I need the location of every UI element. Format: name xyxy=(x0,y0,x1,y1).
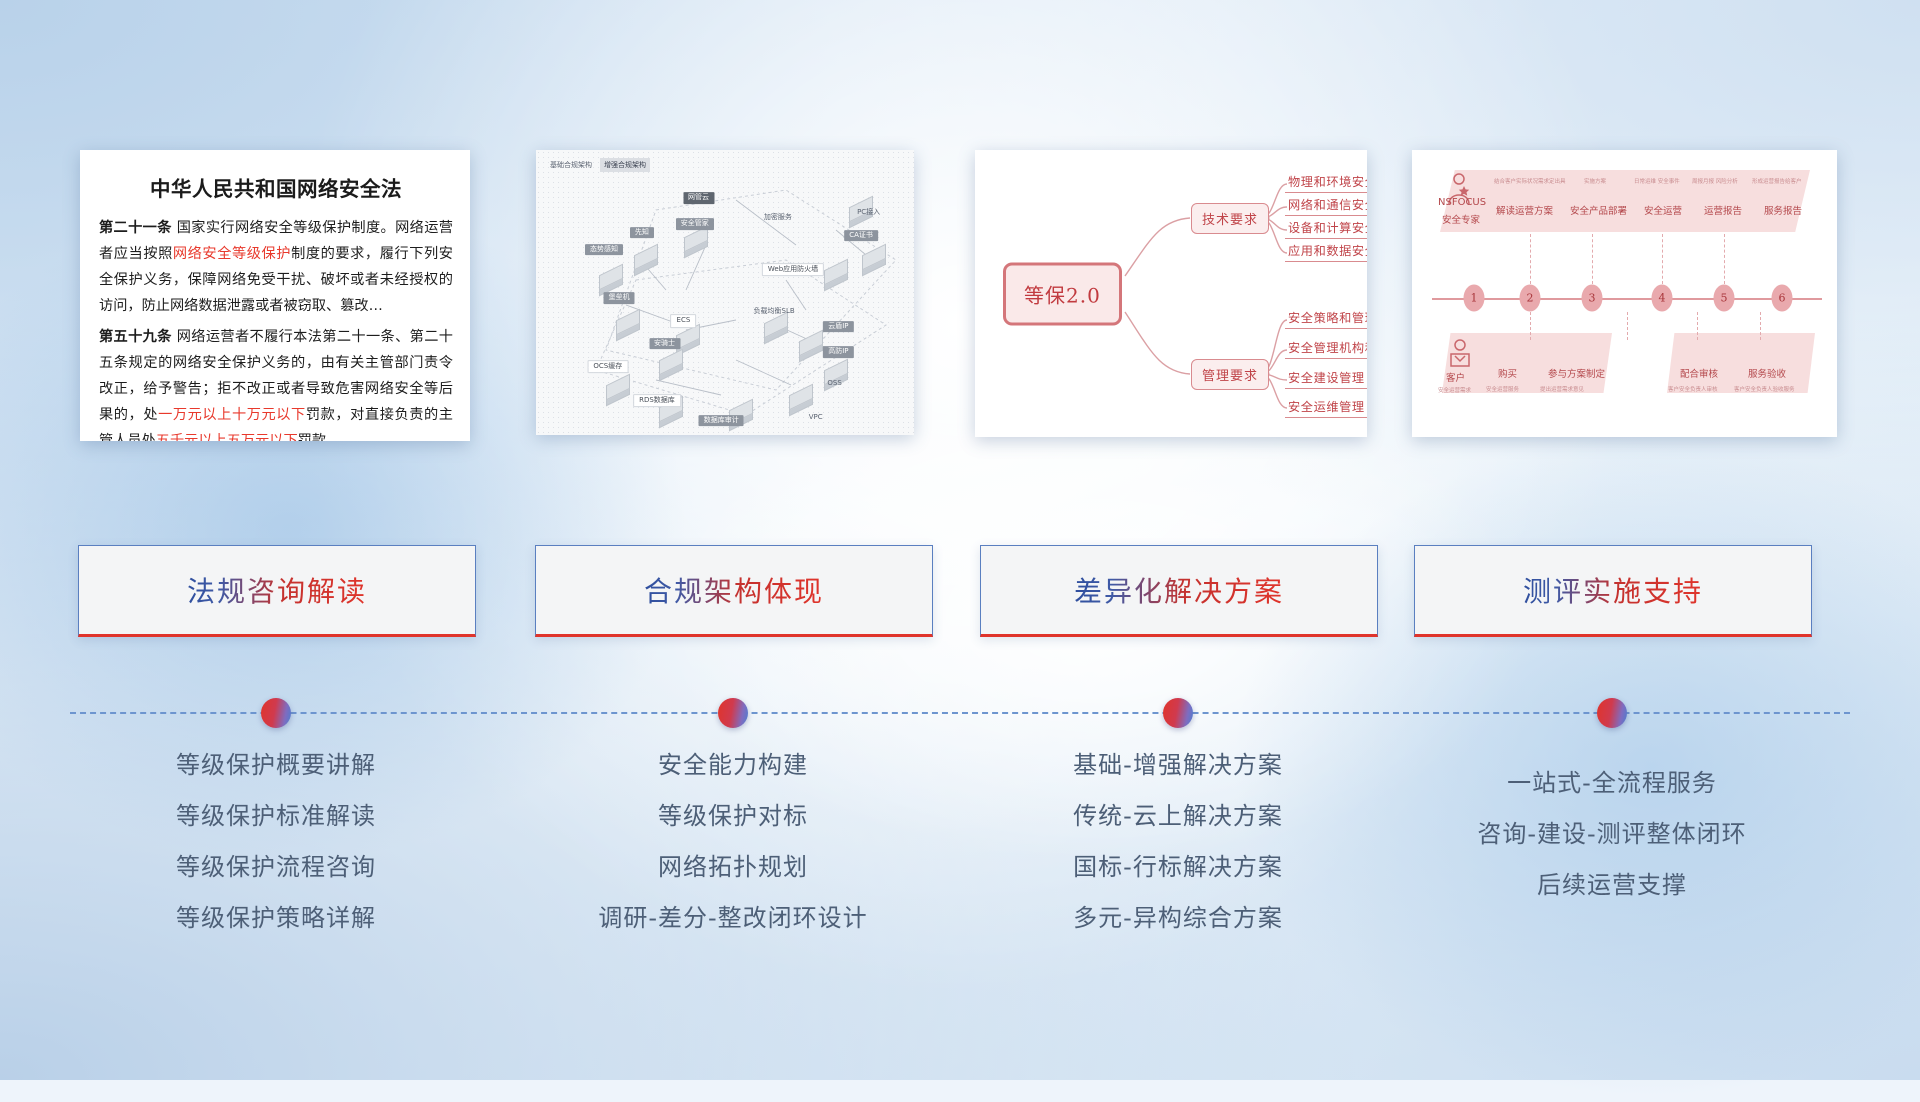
nsfocus-dash-5 xyxy=(1530,312,1531,340)
arch-shape-14 xyxy=(824,265,848,286)
arch-node-5: ECS xyxy=(671,314,697,328)
mindmap-leaf-mgmt-0[interactable]: 安全策略和管理制度 xyxy=(1285,308,1367,329)
arch-node-6: 安骑士 xyxy=(649,338,680,350)
timeline-dot-3[interactable] xyxy=(1163,698,1193,728)
nsfocus-step-number-2[interactable]: 2 xyxy=(1520,285,1541,312)
law-article-59-text-c: 罚款。 xyxy=(298,433,341,441)
arch-node-2: 先知 xyxy=(630,227,654,239)
timeline-dot-1[interactable] xyxy=(261,698,291,728)
nsfocus-step-number-5[interactable]: 5 xyxy=(1714,285,1735,312)
arch-node-18-label: PC接入 xyxy=(852,207,885,219)
pillar-label-row: 法规咨询解读 合规架构体现 差异化解决方案 测评实施支持 xyxy=(0,545,1920,635)
nsfocus-dash-8 xyxy=(1760,312,1761,340)
pillar-label-text-1: 合规架构体现 xyxy=(644,570,824,610)
mindmap-leaf-mgmt-2[interactable]: 安全建设管理 xyxy=(1285,368,1367,389)
pillar-items-compliance-architecture: 安全能力构建 等级保护对标 网络拓扑规划 调研-差分-整改闭环设计 xyxy=(535,740,931,944)
list-item: 多元-异构综合方案 xyxy=(980,893,1376,944)
arch-node-17: CA证书 xyxy=(844,230,878,242)
pillar-label-text-3: 测评实施支持 xyxy=(1523,570,1703,610)
arch-shape-13 xyxy=(789,390,813,411)
mindmap-leaf-mgmt-3[interactable]: 安全运维管理 xyxy=(1285,397,1367,418)
timeline-dot-2[interactable] xyxy=(718,698,748,728)
mindmap-leaf-tech-3[interactable]: 应用和数据安全 xyxy=(1285,241,1367,262)
pillar-detail-row: 等级保护概要讲解 等级保护标准解读 等级保护流程咨询 等级保护策略详解 安全能力… xyxy=(0,740,1920,940)
mindmap-leaf-mgmt-1[interactable]: 安全管理机构和人员 xyxy=(1285,338,1367,359)
nsfocus-step-number-6[interactable]: 6 xyxy=(1772,285,1793,312)
nsfocus-top-title-0: 解读运营方案 xyxy=(1496,203,1553,217)
law-article-21-label: 第二十一条 xyxy=(99,220,172,236)
law-article-21: 第二十一条 国家实行网络安全等级保护制度。网络运营者应当按照网络安全等级保护制度… xyxy=(99,216,453,319)
law-article-21-highlight: 网络安全等级保护 xyxy=(173,246,291,262)
arch-node-15-label: VPC xyxy=(804,412,828,424)
arch-node-5-label: ECS xyxy=(671,314,697,328)
arch-shape-7 xyxy=(606,380,630,401)
arch-node-18: PC接入 xyxy=(852,207,885,219)
arch-node-3-label: 态势感知 xyxy=(585,244,623,256)
arch-node-17-label: CA证书 xyxy=(844,230,878,242)
pillar-label-text-0: 法规咨询解读 xyxy=(187,570,367,610)
nsfocus-step-number-3[interactable]: 3 xyxy=(1582,285,1603,312)
arch-node-9-label: 数据库审计 xyxy=(699,415,744,427)
arch-node-7: OCS缓存 xyxy=(587,360,628,374)
card-nsfocus-timeline[interactable]: NSFOCUS 安全专家 结合客户实际状况需求定出具 实施方案 日常运维 安全事… xyxy=(1412,150,1837,437)
pillar-items-differentiated-solution: 基础-增强解决方案 传统-云上解决方案 国标-行标解决方案 多元-异构综合方案 xyxy=(980,740,1376,944)
nsfocus-bottom-title-1: 参与方案制定 xyxy=(1548,366,1605,380)
arch-node-0: 网管云 xyxy=(683,193,714,205)
nsfocus-top-title-2: 安全运营 xyxy=(1644,203,1682,217)
nsfocus-axis-line xyxy=(1432,298,1822,300)
nsfocus-bottom-title-0: 购买 xyxy=(1498,366,1517,380)
nsfocus-bottom-title-3: 服务验收 xyxy=(1748,366,1786,380)
arch-node-4-label: 堡垒机 xyxy=(604,292,635,304)
list-item: 基础-增强解决方案 xyxy=(980,740,1376,791)
arch-node-1-label: 安全管家 xyxy=(676,218,714,230)
list-item: 后续运营支撑 xyxy=(1414,860,1810,911)
arch-node-2-label: 先知 xyxy=(630,227,654,239)
mindmap-leaf-tech-0[interactable]: 物理和环境安全 xyxy=(1285,172,1367,193)
arch-node-8-label: RDS数据库 xyxy=(633,394,681,408)
list-item: 传统-云上解决方案 xyxy=(980,791,1376,842)
arch-node-10-label: Web应用防火墙 xyxy=(762,263,824,277)
mindmap: 等保2.0 技术要求 管理要求 物理和环境安全 网络和通信安全 设备和计算安全 … xyxy=(975,150,1367,437)
list-item: 网络拓扑规划 xyxy=(535,842,931,893)
pillar-items-assessment-support: 一站式-全流程服务 咨询-建设-测评整体闭环 后续运营支撑 xyxy=(1414,758,1810,911)
nsfocus-bottom-sub-0: 安全运营服务 xyxy=(1486,385,1519,393)
architecture-diagram: 基础合规架构 增强合规架构 xyxy=(536,150,914,435)
arch-node-1: 安全管家 xyxy=(676,218,714,230)
nsfocus-top-sub-2: 日常运维 安全事件 xyxy=(1634,177,1680,185)
nsfocus-bottom-sub-3: 客户安全负责人验收服务 xyxy=(1734,385,1795,393)
timeline-dot-4[interactable] xyxy=(1597,698,1627,728)
nsfocus-dash-6 xyxy=(1627,312,1628,340)
arch-node-8: RDS数据库 xyxy=(633,394,681,408)
nsfocus-dash-7 xyxy=(1697,312,1698,340)
arch-node-7-label: OCS缓存 xyxy=(587,360,628,374)
arch-node-12: 云盾IP xyxy=(823,321,853,333)
list-item: 安全能力构建 xyxy=(535,740,931,791)
nsfocus-customer-sub: 安全运营需求 xyxy=(1438,386,1471,394)
law-document: 中华人民共和国网络安全法 第二十一条 国家实行网络安全等级保护制度。网络运营者应… xyxy=(80,150,470,441)
nsfocus-top-sub-1: 实施方案 xyxy=(1584,177,1606,185)
arch-node-11-label: 负载均衡SLB xyxy=(749,307,800,319)
arch-shape-3 xyxy=(599,270,623,291)
nsfocus-bottom-title-2: 配合审核 xyxy=(1680,366,1718,380)
nsfocus-customer-role: 客户 xyxy=(1446,370,1465,384)
arch-shape-15 xyxy=(862,250,886,271)
nsfocus-top-sub-3: 周报月报 风险分析 xyxy=(1692,177,1738,185)
nsfocus-dash-3 xyxy=(1662,234,1663,284)
list-item: 等级保护概要讲解 xyxy=(78,740,474,791)
arch-node-13: 高防IP xyxy=(823,347,853,359)
list-item: 等级保护对标 xyxy=(535,791,931,842)
law-article-59: 第五十九条 网络运营者不履行本法第二十一条、第二十五条规定的网络安全保护义务的，… xyxy=(99,325,453,441)
arch-node-4: 堡垒机 xyxy=(604,292,635,304)
arch-shape-4 xyxy=(616,315,640,336)
customer-icon xyxy=(1448,338,1472,368)
arch-node-13-label: 高防IP xyxy=(823,347,853,359)
card-compliance-architecture[interactable]: 基础合规架构 增强合规架构 xyxy=(536,150,914,435)
nsfocus-top-sub-0: 结合客户实际状况需求定出具 xyxy=(1494,177,1566,185)
arch-node-15: VPC xyxy=(804,412,828,424)
arch-node-9: 数据库审计 xyxy=(699,415,744,427)
pillar-label-regulation-consulting[interactable]: 法规咨询解读 xyxy=(78,545,476,637)
list-item: 一站式-全流程服务 xyxy=(1414,758,1810,809)
nsfocus-dash-2 xyxy=(1592,234,1593,284)
nsfocus-brand: NSFOCUS xyxy=(1438,197,1486,208)
law-title: 中华人民共和国网络安全法 xyxy=(99,172,453,202)
nsfocus-brand-sub: 安全专家 xyxy=(1442,212,1480,226)
nsfocus-dash-1 xyxy=(1530,234,1531,284)
mindmap-branch-management[interactable]: 管理要求 xyxy=(1191,359,1269,390)
nsfocus-service-timeline: NSFOCUS 安全专家 结合客户实际状况需求定出具 实施方案 日常运维 安全事… xyxy=(1412,150,1837,437)
arch-node-10: Web应用防火墙 xyxy=(762,263,824,277)
slide-content: 中华人民共和国网络安全法 第二十一条 国家实行网络安全等级保护制度。网络运营者应… xyxy=(0,0,1920,1080)
pillar-items-regulation-consulting: 等级保护概要讲解 等级保护标准解读 等级保护流程咨询 等级保护策略详解 xyxy=(78,740,474,944)
nsfocus-top-title-4: 服务报告 xyxy=(1764,203,1802,217)
arch-node-11: 负载均衡SLB xyxy=(749,307,800,319)
law-article-59-highlight-2: 五千元以上五万元以下 xyxy=(156,433,298,441)
pillar-label-assessment-support[interactable]: 测评实施支持 xyxy=(1414,545,1812,637)
card-dengbao-mindmap[interactable]: 等保2.0 技术要求 管理要求 物理和环境安全 网络和通信安全 设备和计算安全 … xyxy=(975,150,1367,437)
list-item: 调研-差分-整改闭环设计 xyxy=(535,893,931,944)
arch-node-14: OSS xyxy=(822,378,846,390)
mindmap-branch-technical[interactable]: 技术要求 xyxy=(1191,203,1269,234)
arch-shape-11 xyxy=(799,336,823,357)
nsfocus-top-sub-4: 形成运营报告给客户 xyxy=(1752,177,1802,185)
mindmap-root-node[interactable]: 等保2.0 xyxy=(1003,262,1122,325)
arch-shape-10 xyxy=(764,318,788,339)
architecture-connector-lines xyxy=(536,150,914,435)
nsfocus-top-title-3: 运营报告 xyxy=(1704,203,1742,217)
nsfocus-step-number-1[interactable]: 1 xyxy=(1464,285,1485,312)
nsfocus-bottom-sub-2: 客户安全负责人审核 xyxy=(1668,385,1718,393)
timeline-dashed-line xyxy=(70,712,1850,714)
timeline xyxy=(0,695,1920,731)
arch-node-16: 加密服务 xyxy=(759,213,797,225)
arch-node-3: 态势感知 xyxy=(585,244,623,256)
nsfocus-bottom-band-right xyxy=(1667,333,1815,393)
arch-node-16-label: 加密服务 xyxy=(759,213,797,225)
arch-node-14-label: OSS xyxy=(822,378,846,390)
card-cybersecurity-law[interactable]: 中华人民共和国网络安全法 第二十一条 国家实行网络安全等级保护制度。网络运营者应… xyxy=(80,150,470,441)
nsfocus-bottom-sub-1: 提出运营需求意见 xyxy=(1540,385,1584,393)
arch-node-12-label: 云盾IP xyxy=(823,321,853,333)
list-item: 国标-行标解决方案 xyxy=(980,842,1376,893)
pillar-label-differentiated-solution[interactable]: 差异化解决方案 xyxy=(980,545,1378,637)
arch-shape-1 xyxy=(684,232,708,253)
card-row: 中华人民共和国网络安全法 第二十一条 国家实行网络安全等级保护制度。网络运营者应… xyxy=(0,150,1920,445)
mindmap-leaf-tech-1[interactable]: 网络和通信安全 xyxy=(1285,195,1367,216)
mindmap-leaf-tech-2[interactable]: 设备和计算安全 xyxy=(1285,218,1367,239)
nsfocus-top-title-1: 安全产品部署 xyxy=(1570,203,1627,217)
law-article-59-label: 第五十九条 xyxy=(99,329,172,345)
pillar-label-text-2: 差异化解决方案 xyxy=(1074,570,1284,610)
nsfocus-dash-4 xyxy=(1724,234,1725,284)
arch-node-6-label: 安骑士 xyxy=(649,338,680,350)
pillar-label-compliance-architecture[interactable]: 合规架构体现 xyxy=(535,545,933,637)
list-item: 等级保护流程咨询 xyxy=(78,842,474,893)
list-item: 咨询-建设-测评整体闭环 xyxy=(1414,809,1810,860)
nsfocus-step-number-4[interactable]: 4 xyxy=(1652,285,1673,312)
arch-node-0-label: 网管云 xyxy=(683,193,714,205)
list-item: 等级保护标准解读 xyxy=(78,791,474,842)
arch-shape-2 xyxy=(634,250,658,271)
list-item: 等级保护策略详解 xyxy=(78,893,474,944)
law-article-59-highlight-1: 一万元以上十万元以下 xyxy=(158,407,306,423)
arch-shape-6 xyxy=(659,355,683,376)
